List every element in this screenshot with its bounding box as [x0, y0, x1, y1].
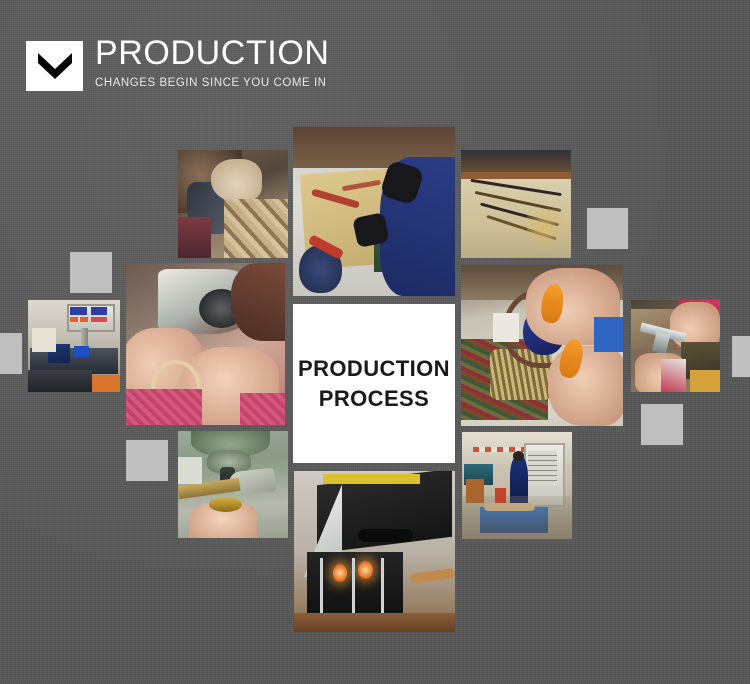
photo-shape: [513, 451, 524, 461]
photo-shape: [211, 159, 262, 202]
placeholder-lower-left: [126, 440, 168, 481]
photo-shape: [178, 217, 211, 258]
photo-shape: [466, 479, 484, 503]
photo-shape: [461, 150, 571, 174]
placeholder-upper-left: [70, 252, 112, 293]
photo-artwork: [461, 265, 623, 426]
tile-pipe-sanding: [126, 263, 285, 425]
photo-artwork: [28, 300, 120, 392]
photo-artwork: [178, 150, 288, 258]
photo-shape: [461, 172, 571, 180]
photo-shape: [661, 359, 686, 392]
photo-shape: [333, 564, 347, 582]
tile-wood-strips: [461, 150, 571, 258]
tile-polishing-wheel: [178, 431, 288, 538]
tile-cnc-machine: [28, 300, 120, 392]
photo-shape: [358, 561, 372, 579]
photo-shape: [527, 209, 571, 252]
photo-shape: [323, 474, 420, 484]
tile-factory-floor: [462, 432, 572, 539]
photo-shape: [231, 263, 285, 341]
photo-shape: [224, 199, 288, 258]
photo-shape: [594, 317, 623, 352]
photo-shape: [358, 529, 413, 542]
photo-shape: [70, 307, 87, 314]
photo-shape: [462, 496, 572, 539]
photo-shape: [178, 457, 202, 485]
photo-shape: [126, 389, 202, 425]
placeholder-right-edge: [732, 336, 750, 377]
photo-shape: [74, 346, 89, 357]
photo-shape: [70, 317, 77, 322]
chevron-down-icon: [26, 41, 83, 91]
page-title: PRODUCTION: [95, 33, 330, 73]
photo-artwork: [461, 150, 571, 258]
photo-artwork: [294, 471, 455, 632]
photo-shape: [493, 313, 519, 342]
tile-frames-inspection: [461, 265, 623, 426]
placeholder-left-edge: [0, 333, 22, 374]
card-line-1: PRODUCTION: [298, 354, 450, 384]
photo-shape: [652, 332, 671, 355]
production-process-card: PRODUCTION PROCESS: [293, 304, 455, 463]
tile-hot-bending: [294, 471, 455, 632]
photo-shape: [80, 317, 87, 322]
placeholder-top-right: [587, 208, 628, 249]
tile-caliper-measure: [631, 300, 720, 392]
tile-carving-rattan: [178, 150, 288, 258]
section-header: PRODUCTION CHANGES BEGIN SINCE YOU COME …: [0, 0, 750, 120]
photo-shape: [528, 451, 557, 485]
photo-shape: [240, 393, 285, 425]
photo-shape: [495, 488, 506, 503]
placeholder-mid-right: [641, 404, 683, 445]
card-line-2: PROCESS: [319, 384, 429, 414]
photo-artwork: [462, 432, 572, 539]
photo-artwork: [126, 263, 285, 425]
photo-shape: [32, 328, 56, 352]
photo-shape: [28, 370, 92, 392]
page-subtitle: CHANGES BEGIN SINCE YOU COME IN: [95, 76, 327, 90]
tile-bench-assembly: [293, 127, 455, 296]
photo-shape: [91, 317, 108, 322]
photo-shape: [91, 307, 108, 314]
photo-artwork: [293, 127, 455, 296]
photo-artwork: [178, 431, 288, 538]
production-process-banner: PRODUCTION PROCESS PRODUCTION CHANGES BE…: [0, 0, 750, 684]
photo-shape: [409, 568, 455, 584]
photo-artwork: [631, 300, 720, 392]
photo-shape: [92, 375, 120, 392]
photo-shape: [294, 613, 455, 632]
photo-shape: [690, 370, 720, 392]
